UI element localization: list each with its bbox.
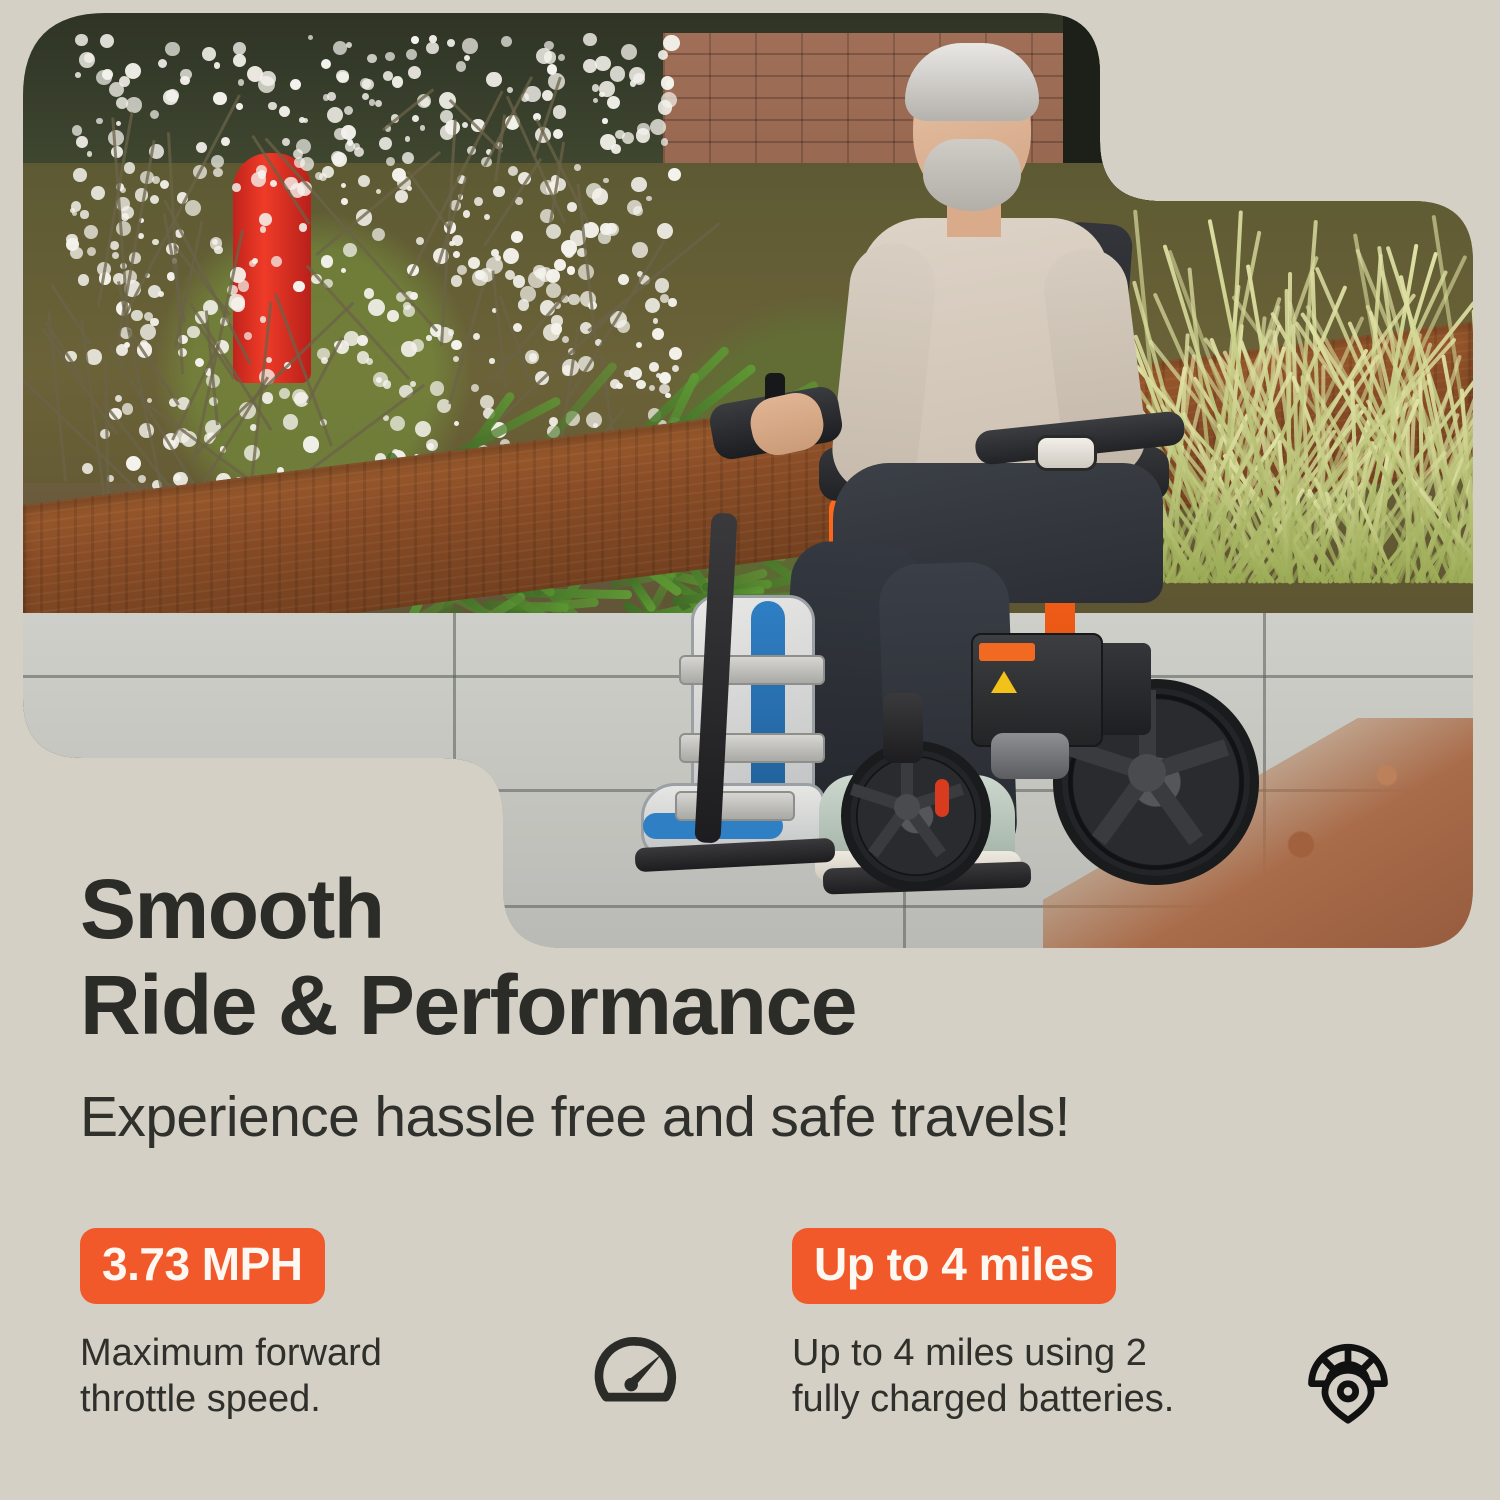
speed-description: Maximum forward throttle speed.: [80, 1330, 480, 1423]
feature-row: 3.73 MPH Maximum forward throttle speed.…: [80, 1228, 1420, 1424]
range-badge: Up to 4 miles: [792, 1228, 1116, 1304]
feature-range: Up to 4 miles Up to 4 miles using 2 full…: [792, 1228, 1396, 1424]
photo-boot-strap-foot: [675, 791, 795, 821]
photo-wristwatch: [1035, 435, 1097, 471]
photo-caster-reflector: [935, 779, 949, 817]
photo-man-hair: [905, 43, 1039, 121]
photo-battery-label: [979, 643, 1035, 661]
subheadline: Experience hassle free and safe travels!: [80, 1088, 1330, 1148]
range-description: Up to 4 miles using 2 fully charged batt…: [792, 1330, 1192, 1423]
photo-caster-fork: [883, 693, 923, 763]
photo-man-beard: [923, 139, 1021, 211]
page-title: Smooth Ride & Performance: [80, 868, 1230, 1047]
photo-man-and-wheelchair: [583, 43, 1263, 948]
feature-speed: 3.73 MPH Maximum forward throttle speed.: [80, 1228, 684, 1424]
range-radar-pin-icon: [1300, 1328, 1396, 1424]
headline-line-1: Smooth: [80, 862, 384, 956]
photo-boot-strap-upper: [679, 655, 825, 685]
headline-line-2: Ride & Performance: [80, 964, 1230, 1046]
hero-photo: [23, 13, 1473, 948]
speed-badge: 3.73 MPH: [80, 1228, 325, 1304]
speedometer-icon: [588, 1328, 684, 1424]
photo-warning-triangle-icon: [991, 671, 1017, 693]
photo-motor-hub: [991, 733, 1069, 779]
